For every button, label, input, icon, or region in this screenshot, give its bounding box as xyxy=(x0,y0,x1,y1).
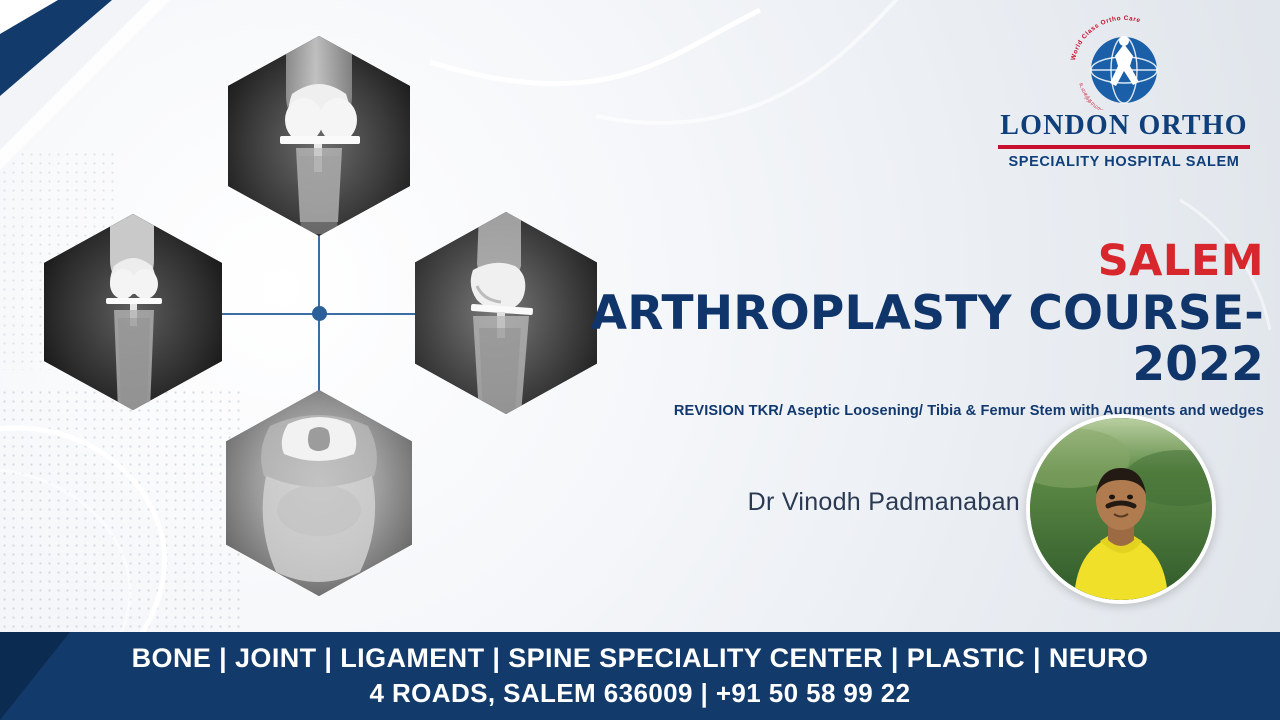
connector-center-dot xyxy=(312,306,327,321)
logo-subtitle: SPECIALITY HOSPITAL SALEM xyxy=(990,154,1258,170)
headline-block: SALEM ARTHROPLASTY COURSE-2022 REVISION … xyxy=(564,240,1264,419)
logo-divider xyxy=(998,145,1250,149)
speaker-avatar xyxy=(1026,414,1216,604)
xray-hex-cluster xyxy=(30,18,650,630)
footer-line-address: 4 ROADS, SALEM 636009 | +91 50 58 99 22 xyxy=(369,678,910,709)
headline-subtitle: REVISION TKR/ Aseptic Loosening/ Tibia &… xyxy=(564,403,1264,419)
hospital-logo: World Class Ortho Care உலகத்தரமான உடல்நல… xyxy=(990,14,1258,184)
footer-corner-accent xyxy=(0,632,96,720)
headline-eyebrow: SALEM xyxy=(564,240,1264,283)
footer-line-services: BONE | JOINT | LIGAMENT | SPINE SPECIALI… xyxy=(132,643,1149,674)
headline-title: ARTHROPLASTY COURSE-2022 xyxy=(564,289,1264,391)
poster-canvas: World Class Ortho Care உலகத்தரமான உடல்நல… xyxy=(0,0,1280,720)
xray-tile-knee-ap-implant-top xyxy=(228,36,410,236)
logo-name: LONDON ORTHO xyxy=(990,110,1258,142)
xray-tile-knee-skyline-implant-bottom xyxy=(226,390,412,596)
footer-bar: BONE | JOINT | LIGAMENT | SPINE SPECIALI… xyxy=(0,632,1280,720)
globe-icon: World Class Ortho Care உலகத்தரமான உடல்நல… xyxy=(1060,14,1188,110)
speaker-name: Dr Vinodh Padmanaban xyxy=(700,488,1020,517)
xray-tile-knee-ap-implant-left xyxy=(44,214,222,410)
